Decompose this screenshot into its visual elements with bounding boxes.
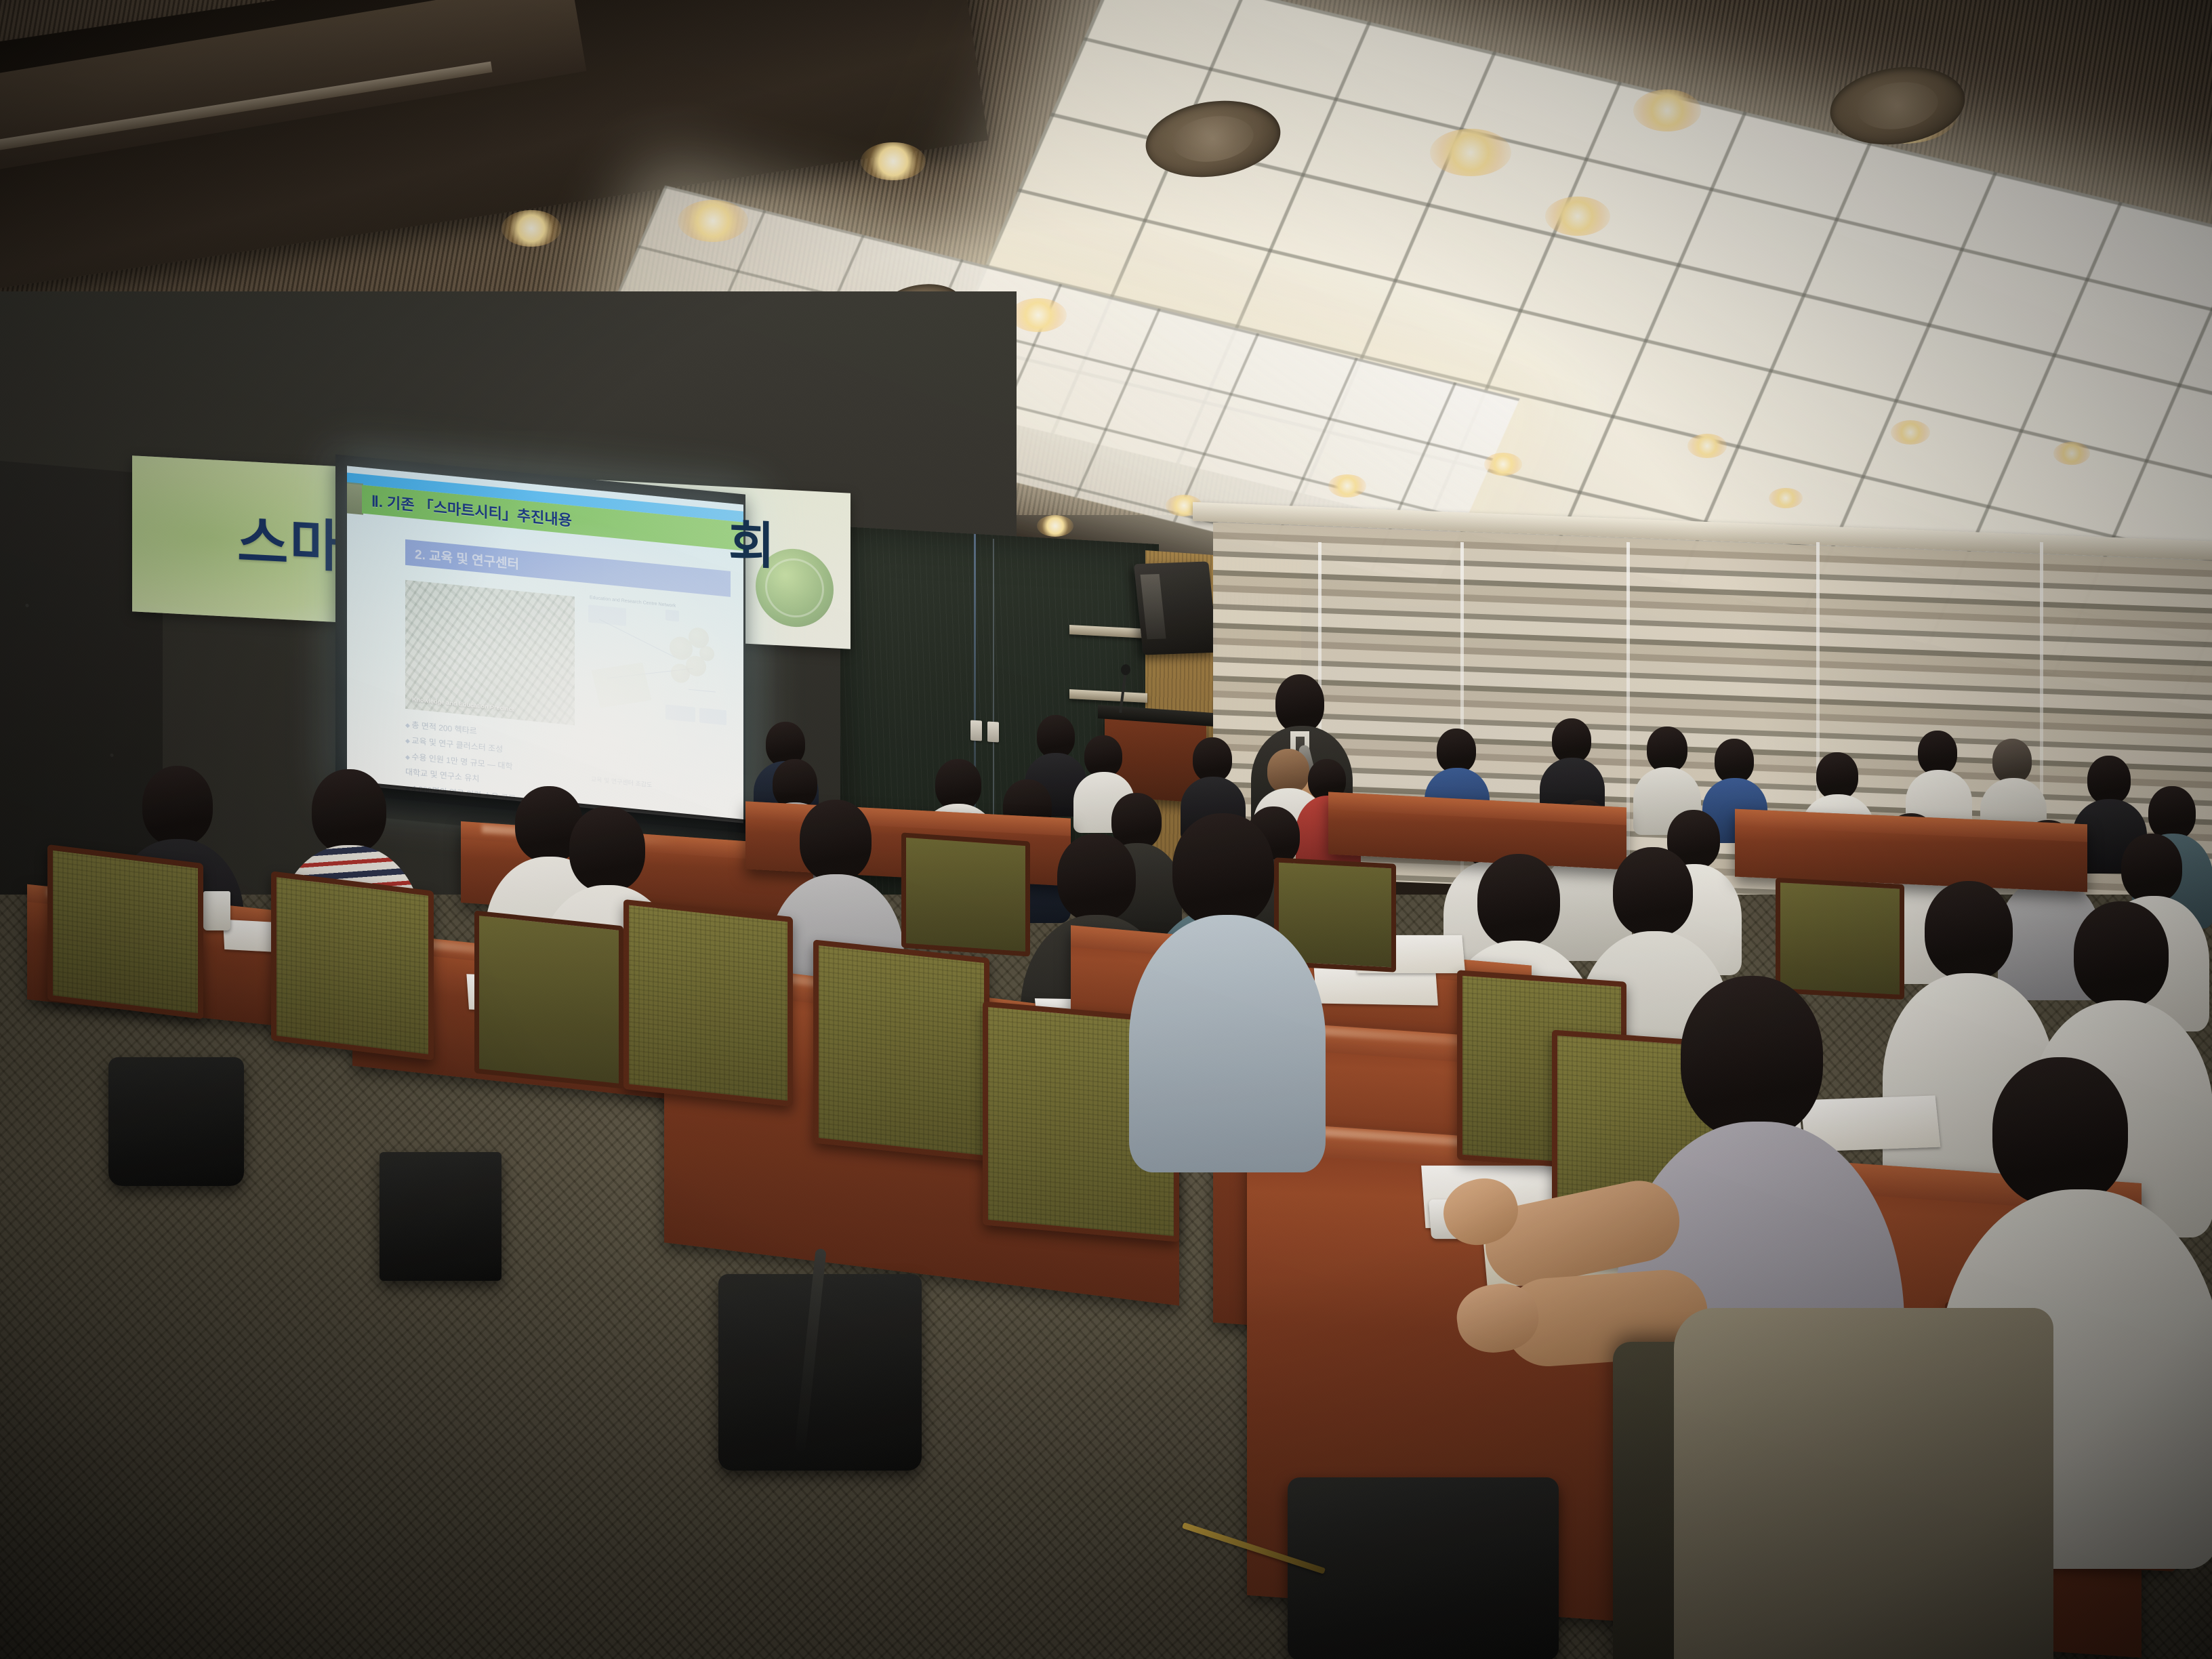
- diagram-box: [699, 708, 726, 725]
- foreground-jacket: [1674, 1308, 2053, 1659]
- chair[interactable]: [474, 910, 623, 1088]
- chair[interactable]: [271, 871, 434, 1060]
- audience-head: [2087, 756, 2131, 804]
- chair[interactable]: [623, 899, 793, 1107]
- slide-subheading: 2. 교육 및 연구센터: [405, 543, 519, 572]
- audience-head: [312, 769, 386, 853]
- audience-head: [1193, 737, 1232, 782]
- audience-head: [2121, 834, 2182, 903]
- black-bag: [108, 1057, 244, 1186]
- audience-head: [1925, 881, 2013, 980]
- black-bag: [380, 1152, 501, 1281]
- recessed-downlight: [1037, 515, 1073, 537]
- diagram-map-block: [591, 662, 651, 708]
- seminar-room-photo: 스마트 회 Ⅱ. 기존 「스마트시티」추진내용 2. 교육 및 연구센터 Kno…: [0, 0, 2212, 1659]
- audience-head: [1647, 726, 1687, 773]
- blind-seam: [1626, 542, 1630, 895]
- audience-head: [1037, 715, 1075, 758]
- chair[interactable]: [901, 832, 1030, 956]
- audience-head: [1172, 813, 1274, 927]
- banner-right-text: 회: [729, 504, 775, 579]
- audience-head: [1552, 718, 1591, 763]
- diagram-connector: [599, 619, 675, 657]
- audience-head: [1267, 749, 1309, 794]
- audience-head: [800, 800, 872, 881]
- audience-head: [773, 759, 817, 809]
- audience-head: [569, 806, 645, 892]
- audience-head: [1681, 976, 1823, 1139]
- bag-strap: [794, 1248, 826, 1452]
- chair[interactable]: [47, 844, 203, 1019]
- audience-head: [1084, 735, 1122, 777]
- paper-cup: [203, 891, 230, 930]
- audience-head: [1613, 847, 1693, 937]
- slide-aerial-photo: Knowledge and Education Precinct: [405, 580, 575, 726]
- audience-head: [1715, 739, 1754, 783]
- chair[interactable]: [813, 939, 989, 1161]
- slide-photo-caption: Knowledge and Education Precinct: [405, 695, 575, 719]
- chair[interactable]: [1776, 878, 1904, 1000]
- slide-side-tab: [347, 482, 363, 514]
- audience-head: [935, 759, 981, 811]
- audience-head: [142, 766, 213, 846]
- presenter-head: [1275, 674, 1324, 733]
- audience-head: [1918, 731, 1957, 775]
- projection-screen: Ⅱ. 기존 「스마트시티」추진내용 2. 교육 및 연구센터 Knowledge…: [347, 466, 743, 823]
- audience-head: [1437, 729, 1476, 773]
- audience-head: [2074, 901, 2169, 1008]
- diagram-box: [665, 704, 695, 722]
- audience-head: [2148, 786, 2196, 840]
- audience-head: [1057, 834, 1136, 922]
- audience-head: [1816, 752, 1858, 800]
- audience-head: [1992, 739, 2032, 783]
- light-switch[interactable]: [987, 722, 999, 743]
- diagram-box: [665, 609, 679, 621]
- audience-head: [1477, 854, 1560, 947]
- light-switch[interactable]: [970, 720, 982, 741]
- wall-mounted-speaker: [1134, 561, 1218, 655]
- diagram-connector: [689, 689, 716, 693]
- audience-body: [1129, 915, 1326, 1172]
- audience-head: [1992, 1057, 2128, 1206]
- black-bag: [718, 1274, 922, 1471]
- black-bag: [1288, 1477, 1559, 1659]
